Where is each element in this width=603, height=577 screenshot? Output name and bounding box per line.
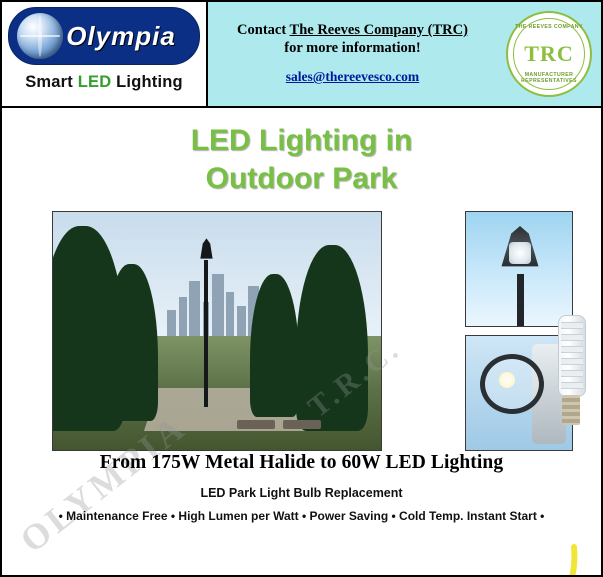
photo-group — [30, 211, 573, 455]
trc-seal: THE REEVES COMPANY TRC MANUFACTURER REPR… — [506, 11, 592, 97]
contact-prefix: Contact — [237, 22, 290, 38]
logo-badge: Olympia ® — [8, 7, 200, 65]
trc-seal-cell: THE REEVES COMPANY TRC MANUFACTURER REPR… — [497, 2, 601, 106]
registered-mark: ® — [189, 53, 195, 62]
caption-bullets: • Maintenance Free • High Lumen per Watt… — [2, 509, 601, 523]
header-bar: Olympia ® Smart LED Lighting Contact The… — [2, 2, 601, 108]
contact-email-link[interactable]: sales@thereevesco.com — [286, 69, 419, 85]
lamp-glass — [509, 242, 531, 264]
trc-seal-bottom-text: MANUFACTURER REPRESENTATIVES — [508, 72, 590, 84]
park-lamp-pole — [204, 260, 208, 408]
lamp-fixture-photo — [465, 211, 573, 327]
logo-tagline: Smart LED Lighting — [25, 73, 183, 92]
lamp-pole — [517, 274, 524, 327]
bulb-body — [558, 315, 586, 397]
contact-line-1: Contact The Reeves Company (TRC) — [237, 21, 468, 39]
title-line-2: Outdoor Park — [2, 160, 601, 198]
logo-wordmark: Olympia — [32, 21, 176, 52]
led-bulb-installed — [499, 372, 515, 388]
park-bench — [237, 420, 275, 429]
bulb-screw-base — [562, 395, 580, 425]
page-title: LED Lighting in Outdoor Park — [2, 108, 601, 197]
tagline-smart: Smart — [25, 73, 78, 91]
flyer-page: Olympia ® Smart LED Lighting Contact The… — [0, 0, 603, 577]
led-corn-bulb — [550, 315, 592, 437]
trc-seal-letters: TRC — [524, 41, 573, 67]
park-bench — [283, 420, 321, 429]
trc-seal-top-text: THE REEVES COMPANY — [508, 24, 590, 30]
yellow-arrow-icon — [402, 541, 592, 577]
contact-block: Contact The Reeves Company (TRC) for mor… — [208, 2, 497, 106]
tagline-led: LED — [78, 73, 112, 91]
caption-subline: LED Park Light Bulb Replacement — [2, 486, 601, 500]
contact-line-2: for more information! — [284, 39, 420, 57]
park-photo — [52, 211, 382, 451]
caption-block: From 175W Metal Halide to 60W LED Lighti… — [2, 452, 601, 523]
flyer-body: LED Lighting in Outdoor Park — [2, 108, 601, 575]
caption-headline: From 175W Metal Halide to 60W LED Lighti… — [2, 452, 601, 474]
olympia-logo: Olympia ® Smart LED Lighting — [2, 2, 208, 106]
title-line-1: LED Lighting in — [2, 122, 601, 160]
contact-company-link[interactable]: The Reeves Company (TRC) — [290, 22, 468, 38]
tagline-lighting: Lighting — [111, 73, 182, 91]
